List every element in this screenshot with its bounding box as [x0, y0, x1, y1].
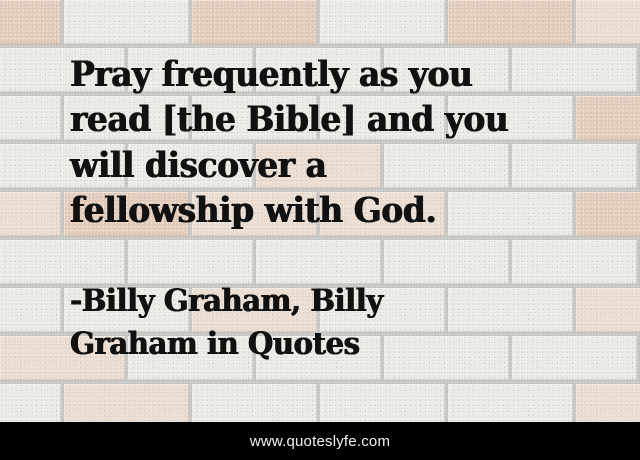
quote-line-1: Pray frequently as you — [70, 56, 472, 94]
quote-line-3: will discover a — [70, 147, 326, 185]
footer-bar: www.quoteslyfe.com — [0, 422, 640, 460]
quote-image: Pray frequently as you read [the Bible] … — [0, 0, 640, 460]
website-url[interactable]: www.quoteslyfe.com — [250, 433, 390, 450]
quote-text-layer: Pray frequently as you read [the Bible] … — [0, 0, 640, 422]
attribution-line-1: -Billy Graham, Billy — [70, 284, 383, 318]
quote-line-2: read [the Bible] and you — [70, 101, 508, 139]
quote-line-4: fellowship with God. — [70, 192, 436, 230]
attribution-line-2: Graham in Quotes — [70, 327, 359, 361]
